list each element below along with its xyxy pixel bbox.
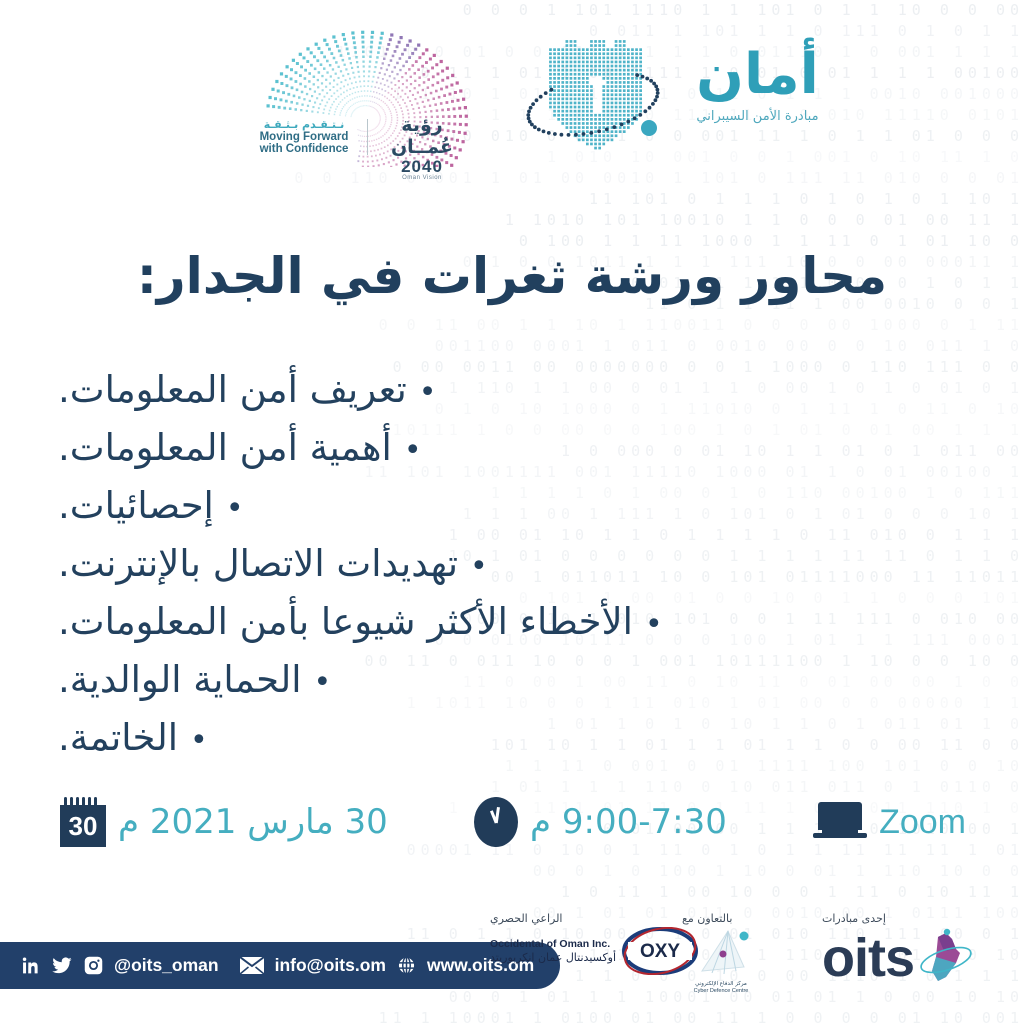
bullet-marker-icon: • (226, 481, 244, 536)
vision-tagline-en-2: with Confidence (245, 143, 363, 155)
contact-email[interactable]: info@oits.om (275, 955, 386, 976)
oxy-label: الراعي الحصري (490, 912, 563, 926)
cdc-caption: مركز الدفاع الإلكتروني Cyber Defence Cen… (694, 981, 749, 995)
agenda-item: •تهديدات الاتصال بالإنترنت. (58, 536, 966, 594)
oits-logo-row: oits (822, 927, 978, 989)
event-date-text: 30 مارس 2021 م (118, 799, 388, 845)
vision-name-block: رؤية عُمــان 2040 Oman Vision (367, 114, 477, 181)
agenda-list: •تعريف أمن المعلومات.•أهمية أمن المعلوما… (58, 362, 966, 768)
cdc-label: بالتعاون مع (682, 912, 732, 926)
header: نـتـقـدم بـثـقـة Moving Forward with Con… (0, 0, 1024, 180)
vision-tagline-en-1: Moving Forward (245, 131, 363, 143)
vision-name-ar: رؤية عُمــان (367, 114, 477, 158)
agenda-item: •الأخطاء الأكثر شيوعا بأمن المعلومات. (58, 594, 966, 652)
aman-name: أمان (670, 44, 845, 106)
bullet-marker-icon: • (645, 597, 663, 652)
agenda-item-label: تعريف أمن المعلومات. (58, 362, 407, 417)
oxy-name-ar: أوكسيدنتال عمان انكربوريتد (490, 951, 616, 965)
agenda-item: •أهمية أمن المعلومات. (58, 420, 966, 478)
agenda-item-label: إحصائيات. (58, 478, 214, 533)
aman-logo: أمان مبادرة الأمن السيبراني (505, 18, 845, 168)
sponsor-cyber-defence-centre: بالتعاون مع مركز الدفاع الإلكتروني Cyber… (682, 912, 760, 995)
vision-name-en: Oman Vision (367, 175, 477, 181)
social-handle[interactable]: @oits_oman (114, 955, 219, 976)
event-platform-text: Zoom (879, 799, 966, 845)
cdc-caption-ar: مركز الدفاع الإلكتروني (694, 981, 749, 988)
clock-icon (474, 797, 518, 847)
agenda-item-label: الخاتمة. (58, 710, 178, 765)
agenda-item-label: الحماية الوالدية. (58, 652, 302, 707)
cdc-caption-en: Cyber Defence Centre (694, 988, 749, 995)
bullet-marker-icon: • (190, 713, 208, 768)
oman-vision-2040-logo: نـتـقـدم بـثـقـة Moving Forward with Con… (237, 22, 487, 167)
event-time: 9:00-7:30 م (474, 797, 727, 847)
calendar-icon: 30 (60, 797, 106, 847)
aman-wordmark: أمان مبادرة الأمن السيبراني (670, 44, 845, 126)
sponsor-oits: إحدى مبادرات oits (822, 912, 978, 989)
oman-map-icon (916, 927, 978, 989)
bullet-marker-icon: • (314, 655, 332, 710)
laptop-icon (813, 802, 867, 842)
instagram-icon[interactable] (83, 955, 104, 976)
poster-canvas: نـتـقـدم بـثـقـة Moving Forward with Con… (0, 0, 1024, 1024)
oxy-name: Occidental of Oman Inc. أوكسيدنتال عمان … (490, 938, 616, 965)
event-date: 30 30 مارس 2021 م (60, 797, 388, 847)
pixel-shield-lock-icon (515, 18, 675, 168)
bullet-marker-icon: • (470, 539, 488, 594)
event-info-bar: 30 30 مارس 2021 م 9:00-7:30 م Zoom (60, 797, 966, 847)
bullet-marker-icon: • (404, 423, 422, 478)
page-title: محاور ورشة ثغرات في الجدار: (0, 245, 1024, 307)
agenda-item: •إحصائيات. (58, 478, 966, 536)
event-platform: Zoom (813, 799, 966, 845)
event-time-text: 9:00-7:30 م (530, 799, 727, 845)
agenda-item-label: تهديدات الاتصال بالإنترنت. (58, 536, 458, 591)
oxy-name-en: Occidental of Oman Inc. (490, 938, 616, 951)
oxy-logo-row: OXY Occidental of Oman Inc. أوكسيدنتال ع… (490, 927, 698, 975)
sponsor-logos: الراعي الحصري OXY Occidental of Oman Inc… (470, 912, 1014, 1002)
globe-icon[interactable] (396, 955, 417, 976)
agenda-item: •الخاتمة. (58, 710, 966, 768)
agenda-item-label: أهمية أمن المعلومات. (58, 420, 392, 475)
aman-subtitle: مبادرة الأمن السيبراني (670, 108, 845, 126)
svg-text:OXY: OXY (640, 941, 680, 962)
twitter-icon[interactable] (51, 955, 73, 976)
oits-wordmark: oits (822, 930, 914, 986)
agenda-item-label: الأخطاء الأكثر شيوعا بأمن المعلومات. (58, 594, 633, 649)
calendar-day-number: 30 (60, 805, 106, 847)
bullet-marker-icon: • (419, 365, 437, 420)
envelope-icon[interactable] (239, 956, 265, 975)
linkedin-icon[interactable] (20, 955, 41, 976)
vision-tagline: نـتـقـدم بـثـقـة Moving Forward with Con… (245, 118, 363, 155)
agenda-item: •الحماية الوالدية. (58, 652, 966, 710)
oits-label: إحدى مبادرات (822, 912, 886, 926)
sponsor-oxy: الراعي الحصري OXY Occidental of Oman Inc… (490, 912, 698, 975)
cdc-emblem-icon (682, 927, 760, 979)
agenda-item: •تعريف أمن المعلومات. (58, 362, 966, 420)
vision-tagline-ar: نـتـقـدم بـثـقـة (245, 118, 363, 131)
vision-year: 2040 (367, 158, 477, 175)
